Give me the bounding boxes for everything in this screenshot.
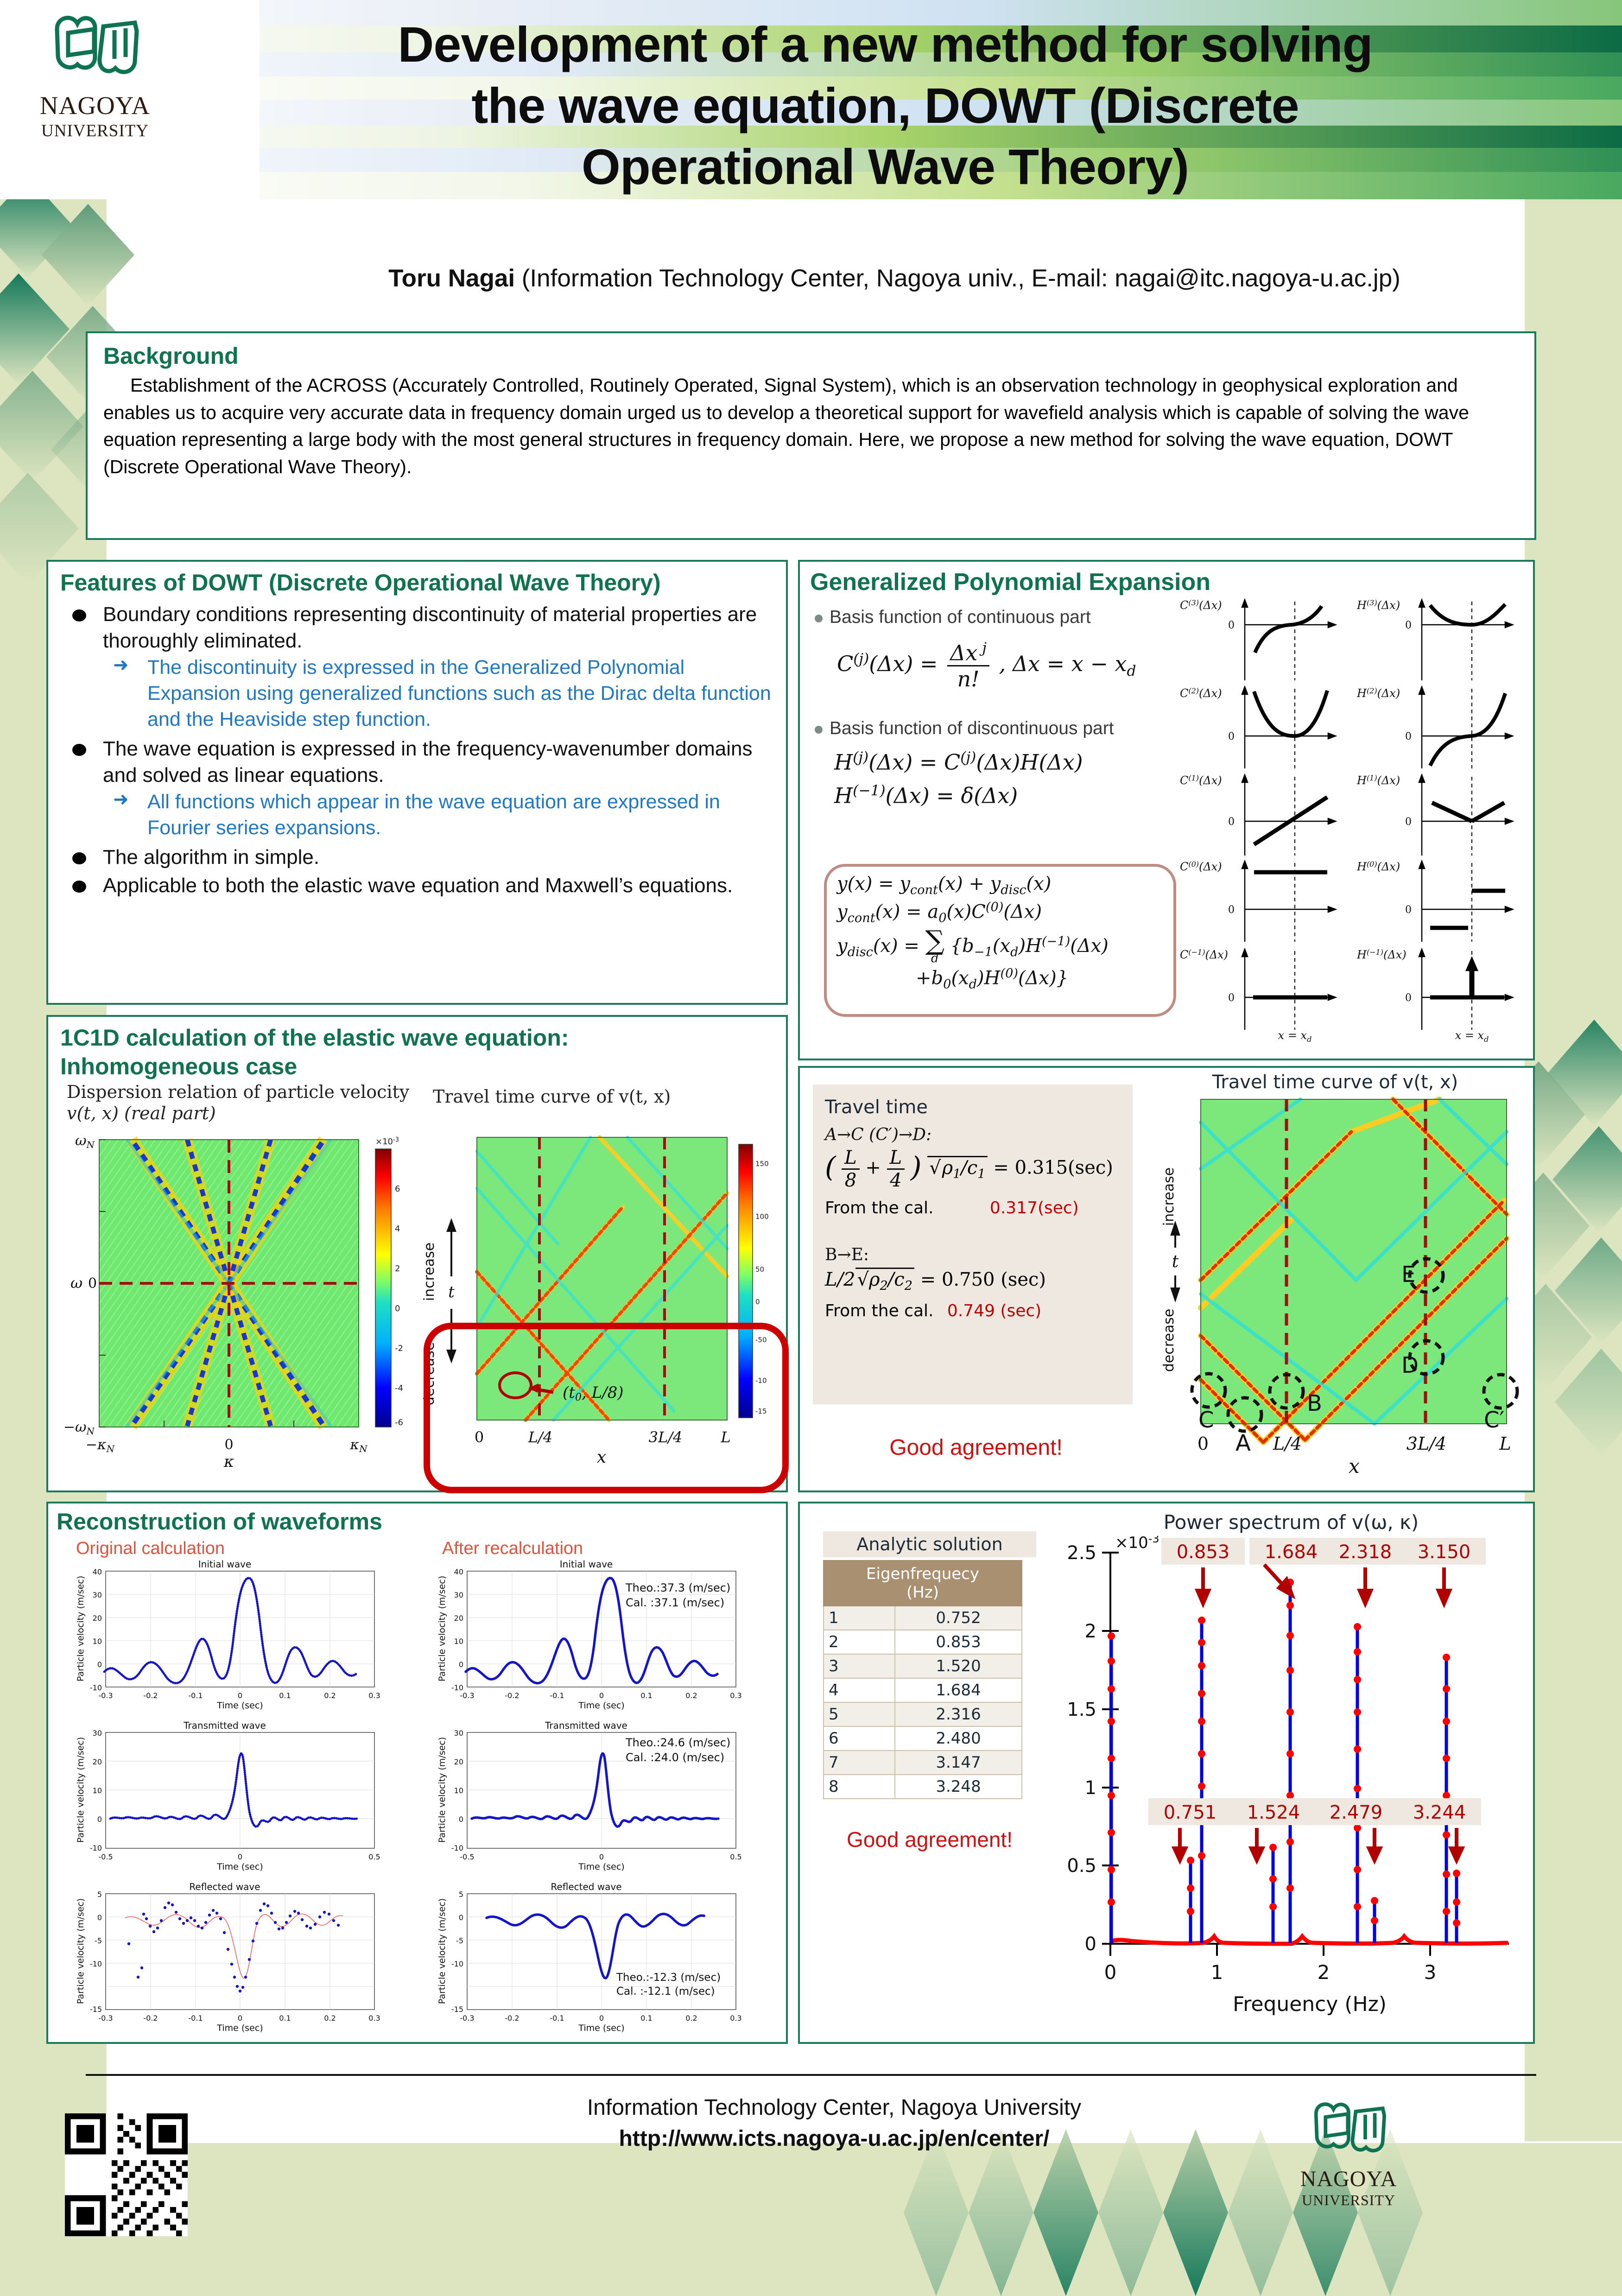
svg-text:0.5: 0.5 <box>730 1852 741 1861</box>
svg-text:0.1: 0.1 <box>640 2014 652 2023</box>
reconstruction-left-label: Original calculation <box>76 1539 225 1559</box>
traveltime-large-decrease-label: decrease <box>1161 1309 1177 1372</box>
svg-text:0: 0 <box>1228 992 1235 1004</box>
svg-text:0: 0 <box>1405 731 1412 742</box>
svg-text:-10: -10 <box>451 1960 463 1968</box>
svg-text:0: 0 <box>1405 620 1412 631</box>
traveltime-plot-title: Travel time curve of v(t, x) <box>1143 1072 1527 1093</box>
svg-text:0: 0 <box>1228 904 1235 916</box>
svg-text:-0.1: -0.1 <box>188 1691 203 1700</box>
svg-text:C(−1)(Δx): C(−1)(Δx) <box>1180 948 1228 961</box>
svg-text:0: 0 <box>459 1660 463 1669</box>
gpe-boxed-eq-2: ycont(x) = a0(x)C(0)(Δx) <box>837 900 1163 925</box>
svg-text:0: 0 <box>1085 1934 1096 1955</box>
svg-text:-0.5: -0.5 <box>460 1852 474 1861</box>
marker-label-D: D <box>1401 1352 1419 1378</box>
annotation-top-4: 3.150 <box>1418 1541 1471 1563</box>
reconstruction-heading: Reconstruction of waveforms <box>57 1508 778 1535</box>
svg-text:0.1: 0.1 <box>279 2014 291 2023</box>
panel-transmitted-cal: Cal. :24.0 (m/sec) <box>626 1751 724 1764</box>
svg-text:10: 10 <box>454 1786 463 1795</box>
svg-text:0: 0 <box>755 1298 760 1306</box>
svg-text:0.1: 0.1 <box>279 1691 291 1700</box>
svg-text:x = xd: x = xd <box>1278 1029 1312 1043</box>
row-frequency: 1.684 <box>895 1678 1022 1702</box>
features-list: Boundary conditions representing discont… <box>60 601 774 899</box>
svg-text:Time (sec): Time (sec) <box>578 1862 624 1872</box>
svg-text:6: 6 <box>395 1184 400 1194</box>
gpe-boxed-eq-3: ydisc(x) = ∑ d {b−1(xd)H(−1)(Δx) <box>837 930 1163 965</box>
svg-text:2.5: 2.5 <box>1067 1542 1096 1564</box>
c1d-heading-line2: Inhomogeneous case <box>60 1052 774 1081</box>
svg-text:30: 30 <box>93 1729 102 1738</box>
svg-text:-15: -15 <box>90 2005 102 2014</box>
traveltime-case1-label: A→C (C′)→D: <box>825 1125 1121 1144</box>
svg-text:Particle velocity (m/sec): Particle velocity (m/sec) <box>76 1576 86 1681</box>
spectrum-peaks <box>1111 1582 1457 1943</box>
svg-text:40: 40 <box>93 1567 102 1576</box>
traveltime-case1-cal-row: From the cal. 0.317(sec) <box>825 1199 1121 1218</box>
traveltime-highlight-outline <box>424 1323 789 1493</box>
svg-text:0: 0 <box>599 1852 604 1861</box>
svg-text:0: 0 <box>395 1304 400 1313</box>
svg-text:−κN: −κN <box>86 1437 115 1454</box>
svg-text:0.3: 0.3 <box>730 2014 741 2023</box>
spectrum-markers <box>1108 1579 1460 1927</box>
traveltime-calc-heading: Travel time <box>825 1097 1121 1118</box>
title-line-1: Development of a new method for solving <box>260 14 1511 75</box>
svg-text:-0.1: -0.1 <box>550 1691 564 1700</box>
svg-text:0: 0 <box>599 1691 604 1700</box>
svg-text:ω: ω <box>70 1274 82 1292</box>
svg-text:0: 0 <box>459 1913 463 1922</box>
annotation-top-2: 1.684 <box>1265 1541 1318 1563</box>
annotation-top-1: 0.853 <box>1177 1541 1230 1563</box>
author-line: Toru Nagai (Information Technology Cente… <box>199 264 1590 292</box>
row-index: 1 <box>824 1606 895 1630</box>
feature-item: Boundary conditions representing discont… <box>60 601 774 733</box>
svg-text:C(2)(Δx): C(2)(Δx) <box>1180 686 1222 700</box>
qr-code <box>65 2113 188 2236</box>
gpe-bullet-continuous: Basis function of continuous part <box>812 607 1178 628</box>
svg-text:0: 0 <box>97 1913 102 1922</box>
svg-text:H(3)(Δx): H(3)(Δx) <box>1356 598 1400 612</box>
svg-text:-10: -10 <box>90 1960 102 1968</box>
svg-text:0.1: 0.1 <box>640 1691 652 1700</box>
svg-text:−ωN: −ωN <box>63 1419 95 1437</box>
svg-text:0: 0 <box>88 1275 97 1292</box>
svg-text:x: x <box>1349 1455 1360 1478</box>
row-frequency: 0.853 <box>895 1630 1022 1654</box>
gpe-bullet-discontinuous: Basis function of discontinuous part <box>812 718 1178 739</box>
row-index: 7 <box>824 1751 895 1775</box>
spectrum-y-exponent: ×10-3 <box>1115 1536 1159 1552</box>
footer-divider <box>86 2074 1536 2076</box>
features-heading: Features of DOWT (Discrete Operational W… <box>60 569 774 596</box>
svg-text:0: 0 <box>1228 620 1235 631</box>
svg-text:Time (sec): Time (sec) <box>216 1862 263 1872</box>
dispersion-relation-plot: ωN ω0 −ωN −κN 0 κN κ ×10-3 642 0-2-4 -6 <box>62 1135 428 1469</box>
waveform-plots: Initial wave 4030 2010 0-10 -0.3-0.2 -0.… <box>56 1559 779 2036</box>
marker-label-C: C <box>1198 1407 1214 1433</box>
svg-text:-10: -10 <box>451 1844 463 1852</box>
svg-text:20: 20 <box>454 1757 463 1766</box>
svg-text:Particle velocity (m/sec): Particle velocity (m/sec) <box>437 1576 447 1681</box>
analytic-solution-block: Analytic solution Eigenfrequecy (Hz) 10.… <box>823 1531 1036 1852</box>
traveltime-curve-large-plot: C A B D E C′ increase decrease t 0 L/4 3… <box>1152 1095 1527 1484</box>
analytic-solution-caption: Analytic solution <box>823 1531 1036 1557</box>
svg-text:2: 2 <box>1318 1961 1330 1984</box>
svg-text:H(1)(Δx): H(1)(Δx) <box>1356 774 1400 787</box>
svg-text:-0.3: -0.3 <box>460 2014 474 2023</box>
svg-text:Transmitted wave: Transmitted wave <box>183 1720 266 1731</box>
svg-text:0.3: 0.3 <box>730 1691 741 1700</box>
feature-subitem: The discontinuity is expressed in the Ge… <box>103 655 774 733</box>
traveltime-case1-cal-label: From the cal. <box>825 1199 933 1218</box>
background-right-band <box>1525 199 1622 2141</box>
svg-text:Particle velocity (m/sec): Particle velocity (m/sec) <box>76 1737 86 1843</box>
marker-label-B: B <box>1307 1390 1322 1416</box>
svg-text:-0.2: -0.2 <box>505 1691 519 1700</box>
row-index: 3 <box>824 1654 895 1678</box>
svg-text:H(2)(Δx): H(2)(Δx) <box>1356 686 1400 700</box>
svg-text:10: 10 <box>93 1637 102 1646</box>
marker-label-E: E <box>1401 1262 1415 1288</box>
eig-header-line1: Eigenfrequecy <box>866 1565 979 1583</box>
svg-text:1.5: 1.5 <box>1067 1699 1096 1720</box>
feature-text: Boundary conditions representing discont… <box>103 603 757 652</box>
svg-text:Particle velocity (m/sec): Particle velocity (m/sec) <box>437 1737 447 1843</box>
svg-text:Time (sec): Time (sec) <box>216 1700 263 1711</box>
svg-text:Particle velocity (m/sec): Particle velocity (m/sec) <box>76 1898 86 2004</box>
svg-text:0.5: 0.5 <box>368 1852 380 1861</box>
feature-sublist: The discontinuity is expressed in the Ge… <box>103 655 774 733</box>
svg-text:0.2: 0.2 <box>324 1691 336 1700</box>
svg-text:t: t <box>448 1283 455 1301</box>
annotation-bottom-2: 1.524 <box>1247 1802 1300 1823</box>
annotation-top-3: 2.318 <box>1339 1541 1392 1563</box>
svg-text:3L/4: 3L/4 <box>1407 1433 1446 1454</box>
svg-text:30: 30 <box>454 1591 463 1599</box>
svg-text:0: 0 <box>238 1852 242 1861</box>
row-index: 2 <box>824 1630 895 1654</box>
row-frequency: 1.520 <box>895 1654 1022 1678</box>
svg-text:10: 10 <box>93 1786 102 1795</box>
c1d-heading-line1: 1C1D calculation of the elastic wave equ… <box>60 1023 774 1052</box>
gpe-left-column: Basis function of continuous part C(j)(Δ… <box>812 604 1178 808</box>
svg-text:0: 0 <box>1197 1433 1209 1454</box>
traveltime-section: Travel time A→C (C′)→D: ( L8 + L4 ) √ρ1/… <box>798 1066 1535 1492</box>
traveltime-case2-formula: L/2√ρ2/c2 = 0.750 (sec) <box>825 1269 1121 1293</box>
traveltime-increase-label: increase <box>421 1243 437 1301</box>
svg-text:Reflected wave: Reflected wave <box>551 1881 621 1892</box>
panel-initial-theo: Theo.:37.3 (m/sec) <box>625 1581 730 1594</box>
svg-text:40: 40 <box>454 1567 463 1576</box>
dispersion-caption-line1: Dispersion relation of particle velocity <box>67 1082 410 1102</box>
svg-text:κN: κN <box>349 1437 368 1454</box>
gpe-equation-2: H(j)(Δx) = C(j)(Δx)H(Δx) <box>834 749 1178 774</box>
svg-text:Transmitted wave: Transmitted wave <box>545 1720 627 1731</box>
svg-text:2: 2 <box>395 1264 400 1274</box>
table-row: 41.684 <box>824 1678 1022 1702</box>
svg-text:C(1)(Δx): C(1)(Δx) <box>1180 774 1222 787</box>
panel-reflected-cal: Cal. :-12.1 (m/sec) <box>616 1985 715 1998</box>
table-row: 62.480 <box>824 1726 1022 1751</box>
c1d-calculation-section: 1C1D calculation of the elastic wave equ… <box>46 1015 788 1492</box>
traveltime-case2-cal-label: From the cal. <box>825 1301 933 1320</box>
panel-initial-cal: Cal. :37.1 (m/sec) <box>626 1596 724 1609</box>
title-line-3: Operational Wave Theory) <box>260 136 1511 197</box>
svg-text:0.2: 0.2 <box>685 2014 697 2023</box>
svg-text:0: 0 <box>1405 992 1412 1004</box>
traveltime-case1-formula: ( L8 + L4 ) √ρ1/c1 = 0.315(sec) <box>825 1147 1121 1191</box>
eigenfrequency-table-header: Eigenfrequecy (Hz) <box>824 1560 1022 1606</box>
svg-text:C(0)(Δx): C(0)(Δx) <box>1180 860 1222 873</box>
annotation-bottom-4: 3.244 <box>1413 1802 1466 1823</box>
svg-text:0: 0 <box>1228 731 1235 742</box>
svg-text:Initial wave: Initial wave <box>198 1559 251 1570</box>
annotation-bottom-1: 0.751 <box>1164 1802 1217 1823</box>
dispersion-caption-line2: v(t, x) (real part) <box>67 1103 216 1123</box>
eigenfrequency-table-body: 10.752 20.853 31.520 41.684 52.316 62.48… <box>824 1606 1022 1799</box>
svg-text:0: 0 <box>97 1815 102 1824</box>
svg-text:1: 1 <box>1211 1961 1223 1984</box>
svg-text:20: 20 <box>93 1614 102 1623</box>
feature-item: Applicable to both the elastic wave equa… <box>60 872 774 899</box>
gpe-heading: Generalized Polynomial Expansion <box>810 568 1523 596</box>
row-frequency: 2.316 <box>895 1702 1022 1726</box>
svg-text:0: 0 <box>459 1815 463 1824</box>
svg-text:3: 3 <box>1424 1961 1437 1984</box>
traveltime-case1-cal-value: 0.317(sec) <box>990 1199 1079 1218</box>
traveltime-case2-label: B→E: <box>825 1245 1121 1264</box>
logo-university-sub: UNIVERSITY <box>25 121 165 141</box>
svg-text:C(3)(Δx): C(3)(Δx) <box>1180 598 1222 612</box>
footer-logo-university-name: NAGOYA <box>1274 2166 1423 2192</box>
svg-text:-0.3: -0.3 <box>98 2014 113 2023</box>
svg-text:100: 100 <box>755 1212 769 1221</box>
traveltime-large-increase-label: increase <box>1161 1167 1177 1226</box>
gpe-equation-3: H(−1)(Δx) = δ(Δx) <box>834 782 1178 808</box>
svg-text:κ: κ <box>223 1452 234 1469</box>
traveltime-case2-cal-row: From the cal. 0.749 (sec) <box>825 1301 1121 1320</box>
feature-item: The algorithm in simple. <box>60 844 774 870</box>
svg-text:H(0)(Δx): H(0)(Δx) <box>1356 860 1400 873</box>
feature-sublist: All functions which appear in the wave e… <box>103 789 774 841</box>
svg-text:0: 0 <box>1405 904 1412 916</box>
row-index: 6 <box>824 1726 895 1751</box>
reconstruction-right-label: After recalculation <box>442 1539 583 1559</box>
author-name: Toru Nagai <box>388 265 515 292</box>
svg-text:0: 0 <box>224 1437 233 1453</box>
reconstruction-section: Reconstruction of waveforms Original cal… <box>46 1502 788 2044</box>
svg-text:Time (sec): Time (sec) <box>578 1700 624 1711</box>
svg-text:-0.1: -0.1 <box>550 2014 564 2023</box>
traveltime-case2-cal-value: 0.749 (sec) <box>947 1301 1041 1320</box>
svg-text:-2: -2 <box>395 1344 403 1353</box>
svg-text:30: 30 <box>93 1591 102 1599</box>
svg-text:Reflected wave: Reflected wave <box>189 1881 260 1892</box>
svg-text:x = xd: x = xd <box>1455 1029 1489 1043</box>
table-row: 83.248 <box>824 1775 1022 1799</box>
row-index: 5 <box>824 1702 895 1726</box>
row-index: 8 <box>824 1775 895 1799</box>
row-frequency: 3.147 <box>895 1751 1022 1775</box>
svg-text:0.3: 0.3 <box>368 1691 380 1700</box>
svg-text:150: 150 <box>755 1160 769 1168</box>
generalized-polynomial-expansion-section: Generalized Polynomial Expansion Basis f… <box>798 560 1535 1060</box>
background-heading: Background <box>103 342 1519 370</box>
analytic-conclusion: Good agreement! <box>823 1827 1036 1852</box>
svg-text:Initial wave: Initial wave <box>560 1559 613 1570</box>
gpe-boxed-eq-4: +b0(xd)H(0)(Δx)} <box>837 966 1163 991</box>
power-spectrum-chart: 00.51 1.522.5 ×10-3 01 23 Frequency (Hz) <box>1050 1536 1527 2027</box>
table-row: 20.853 <box>824 1630 1022 1654</box>
panel-transmitted-theo: Theo.:24.6 (m/sec) <box>625 1736 730 1749</box>
svg-text:-15: -15 <box>451 2005 463 2014</box>
gpe-basis-function-graphs: C(3)(Δx) 0 C(2)(Δx) 0 C(1)(Δx) <box>1180 598 1528 1043</box>
svg-text:5: 5 <box>97 1890 102 1899</box>
svg-text:-5: -5 <box>95 1936 102 1945</box>
row-frequency: 2.480 <box>895 1726 1022 1751</box>
row-frequency: 3.248 <box>895 1775 1022 1799</box>
svg-text:20: 20 <box>93 1757 102 1766</box>
svg-text:-0.3: -0.3 <box>460 1691 474 1700</box>
svg-text:-10: -10 <box>90 1844 102 1852</box>
svg-text:-0.1: -0.1 <box>188 2014 203 2023</box>
poster-title: Development of a new method for solving … <box>260 14 1511 197</box>
svg-text:0.2: 0.2 <box>324 2014 336 2023</box>
annotation-bottom-3: 2.479 <box>1330 1802 1383 1823</box>
svg-text:0: 0 <box>97 1660 102 1669</box>
traveltime-conclusion: Good agreement! <box>818 1435 1134 1460</box>
svg-text:ωN: ωN <box>75 1135 95 1150</box>
power-spectrum-section: Analytic solution Eigenfrequecy (Hz) 10.… <box>798 1502 1535 2044</box>
svg-text:0: 0 <box>1405 816 1412 828</box>
marker-label-A: A <box>1236 1430 1251 1456</box>
svg-text:Particle velocity (m/sec): Particle velocity (m/sec) <box>437 1898 447 2004</box>
marker-label-Cprime: C′ <box>1484 1407 1504 1433</box>
svg-text:4: 4 <box>395 1224 400 1234</box>
feature-subitem: All functions which appear in the wave e… <box>103 789 774 841</box>
row-index: 4 <box>824 1678 895 1702</box>
title-line-2: the wave equation, DOWT (Discrete <box>260 75 1511 136</box>
footer-text: Information Technology Center, Nagoya Un… <box>417 2095 1251 2151</box>
author-affiliation: (Information Technology Center, Nagoya u… <box>522 265 1400 292</box>
spectrum-xlabel: Frequency (Hz) <box>1233 1992 1387 2016</box>
svg-text:0: 0 <box>1104 1961 1117 1984</box>
footer-center-name: Information Technology Center, Nagoya Un… <box>417 2095 1251 2120</box>
svg-text:0: 0 <box>238 2014 242 2023</box>
svg-text:-4: -4 <box>395 1383 403 1393</box>
svg-text:-5: -5 <box>456 1936 463 1945</box>
footer-logo-university-sub: UNIVERSITY <box>1274 2192 1423 2209</box>
svg-text:50: 50 <box>755 1265 764 1274</box>
svg-text:0: 0 <box>238 1691 242 1700</box>
svg-text:Time (sec): Time (sec) <box>578 2023 624 2033</box>
svg-text:30: 30 <box>454 1729 463 1738</box>
svg-text:H(−1)(Δx): H(−1)(Δx) <box>1356 948 1407 961</box>
eig-header-line2: (Hz) <box>906 1583 939 1602</box>
svg-text:5: 5 <box>459 1890 463 1899</box>
background-section: Background Establishment of the ACROSS (… <box>86 331 1536 540</box>
svg-text:t: t <box>1172 1252 1179 1271</box>
svg-text:0.3: 0.3 <box>368 2014 380 2023</box>
eigenfrequency-table: Eigenfrequecy (Hz) 10.752 20.853 31.520 … <box>823 1560 1022 1799</box>
gpe-summary-box: y(x) = ycont(x) + ydisc(x) ycont(x) = a0… <box>824 864 1176 1017</box>
svg-text:1: 1 <box>1085 1777 1096 1799</box>
panel-reflected-theo: Theo.:-12.3 (m/sec) <box>616 1972 721 1984</box>
svg-text:0.5: 0.5 <box>1067 1855 1096 1877</box>
traveltime-case2-theory: = 0.750 (sec) <box>920 1269 1046 1290</box>
power-spectrum-title: Power spectrum of v(ω, κ) <box>1059 1511 1523 1534</box>
nagoya-university-logo: NAGOYA UNIVERSITY <box>25 7 165 202</box>
footer-nagoya-logo: NAGOYA UNIVERSITY <box>1274 2095 1423 2209</box>
features-section: Features of DOWT (Discrete Operational W… <box>46 560 788 1005</box>
svg-text:10: 10 <box>454 1637 463 1646</box>
svg-text:0: 0 <box>599 2014 604 2023</box>
svg-text:-0.2: -0.2 <box>505 2014 519 2023</box>
svg-text:×10-3: ×10-3 <box>375 1136 399 1147</box>
svg-text:-0.3: -0.3 <box>98 1691 113 1700</box>
gpe-boxed-eq-1: y(x) = ycont(x) + ydisc(x) <box>837 873 1163 897</box>
footer-url[interactable]: http://www.icts.nagoya-u.ac.jp/en/center… <box>417 2126 1251 2151</box>
svg-text:-6: -6 <box>395 1418 403 1427</box>
traveltime-case1-theory: 0.315(sec) <box>1015 1157 1113 1179</box>
table-row: 52.316 <box>824 1702 1022 1726</box>
row-frequency: 0.752 <box>895 1606 1022 1630</box>
logo-university-name: NAGOYA <box>25 91 165 120</box>
svg-text:L/4: L/4 <box>1273 1433 1302 1454</box>
svg-text:0.2: 0.2 <box>685 1691 697 1700</box>
table-row: 31.520 <box>824 1654 1022 1678</box>
table-row: 10.752 <box>824 1606 1022 1630</box>
feature-text: The wave equation is expressed in the fr… <box>103 737 752 786</box>
feature-item: The wave equation is expressed in the fr… <box>60 736 774 841</box>
svg-text:20: 20 <box>454 1614 463 1623</box>
traveltime-calc-panel: Travel time A→C (C′)→D: ( L8 + L4 ) √ρ1/… <box>813 1085 1133 1404</box>
background-paragraph: Establishment of the ACROSS (Accurately … <box>103 372 1519 481</box>
table-row: 73.147 <box>824 1751 1022 1775</box>
svg-text:L: L <box>1499 1433 1511 1454</box>
svg-text:-0.5: -0.5 <box>98 1852 113 1861</box>
gpe-equation-1: C(j)(Δx) = Δx j n! , Δx = x − xd <box>837 640 1178 691</box>
svg-text:-0.2: -0.2 <box>143 1691 158 1700</box>
svg-text:Time (sec): Time (sec) <box>216 2023 263 2033</box>
traveltime-caption: Travel time curve of v(t, x) <box>433 1086 671 1107</box>
svg-text:-0.2: -0.2 <box>143 2014 158 2023</box>
svg-text:0: 0 <box>1228 816 1235 828</box>
svg-text:2: 2 <box>1085 1621 1096 1642</box>
